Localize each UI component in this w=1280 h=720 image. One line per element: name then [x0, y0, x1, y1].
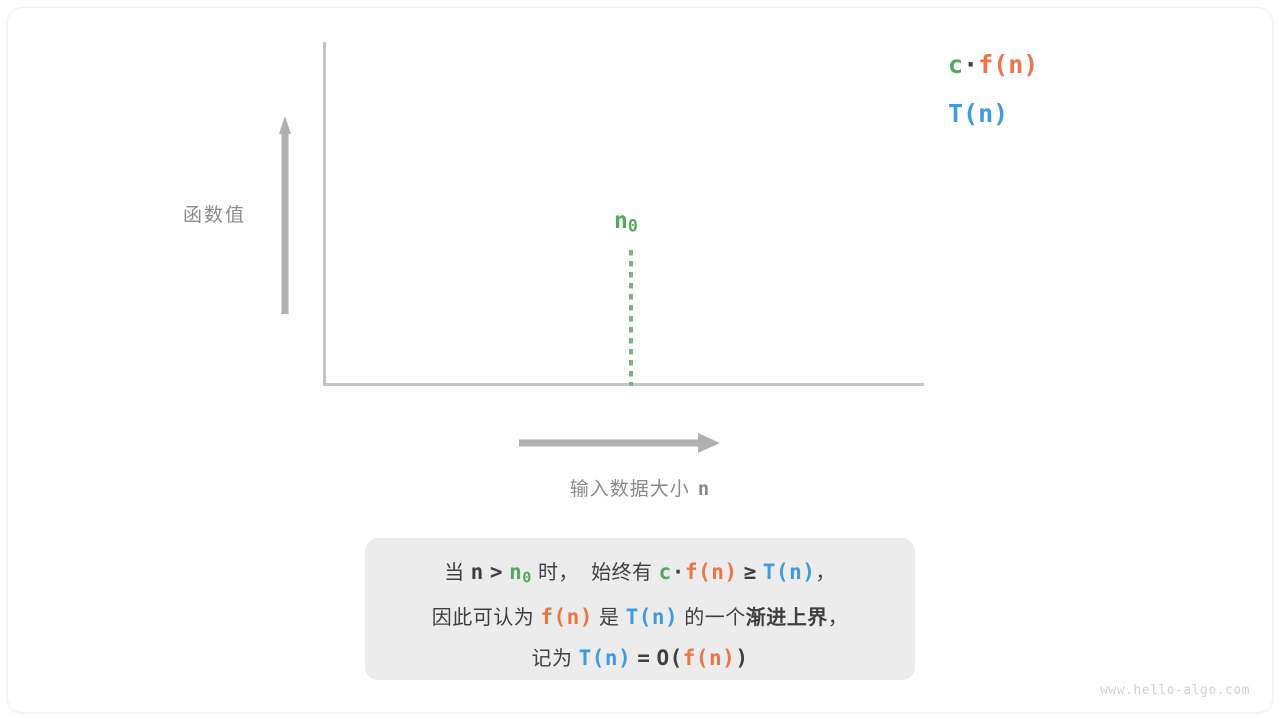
caption-line-2: 因此可认为 f(n) 是 T(n) 的一个渐进上界，	[365, 597, 915, 638]
x-axis-arrow-icon	[518, 432, 720, 454]
x-axis-label-variable: n	[698, 478, 710, 500]
n0-label: n0	[614, 208, 638, 236]
caption-l2-emphasis: 渐进上界	[746, 607, 828, 629]
n0-label-subscript: 0	[628, 217, 638, 236]
caption-l2-text-2: 是	[599, 607, 620, 629]
caption-l1-text-2: 时，	[538, 562, 579, 584]
caption-l2-text-3: 的一个	[684, 607, 746, 629]
y-axis-label: 函数值	[183, 200, 246, 227]
legend-function-f-n: f(n)	[978, 50, 1038, 79]
caption-l1-var-n0: n0	[509, 560, 532, 584]
caption-l3-bigo-open: O(	[656, 646, 682, 670]
legend-dot-operator: ·	[963, 50, 978, 79]
watermark: www.hello-algo.com	[1100, 683, 1250, 698]
caption-l1-var-n: n	[471, 560, 484, 584]
n0-dotted-line	[629, 250, 633, 386]
caption-l3-function-t-n: T(n)	[579, 646, 632, 670]
figure-root: n0 函数值 输入数据大小n c·f(n) T(n) 当 n > n0 时， 始…	[0, 0, 1280, 720]
caption-l1-constant-c: c	[659, 560, 672, 584]
caption-l1-geq: ≥	[744, 560, 757, 584]
caption-l2-comma: ，	[828, 607, 849, 629]
caption-l3-bigo-close: )	[735, 646, 748, 670]
caption-line-1: 当 n > n0 时， 始终有 c·f(n) ≥ T(n)，	[365, 552, 915, 597]
legend-constant-c: c	[948, 50, 963, 79]
x-axis-label-text: 输入数据大小	[570, 479, 690, 500]
caption-l1-gt: >	[490, 560, 503, 584]
legend-item-c-f-n: c·f(n)	[948, 50, 1038, 79]
caption-l2-function-f-n: f(n)	[540, 605, 593, 629]
caption-l1-n0-base: n	[509, 560, 522, 584]
caption-l3-text-1: 记为	[532, 648, 573, 670]
legend-item-t-n: T(n)	[948, 99, 1008, 128]
caption-line-3: 记为 T(n) = O(f(n))	[365, 638, 915, 679]
caption-l1-function-t-n: T(n)	[763, 560, 816, 584]
x-axis-label: 输入数据大小n	[0, 474, 1280, 501]
caption-l2-text-1: 因此可认为	[432, 607, 535, 629]
caption-box: 当 n > n0 时， 始终有 c·f(n) ≥ T(n)， 因此可认为 f(n…	[365, 538, 915, 680]
legend-function-t-n: T(n)	[948, 99, 1008, 128]
n0-label-base: n	[614, 208, 628, 234]
caption-l2-function-t-n: T(n)	[626, 605, 679, 629]
caption-l1-dot-operator: ·	[672, 560, 685, 584]
y-axis-arrow-icon	[279, 116, 291, 316]
caption-l1-function-f-n: f(n)	[685, 560, 738, 584]
caption-l1-text-1: 当	[444, 562, 465, 584]
caption-l3-function-f-n: f(n)	[683, 646, 736, 670]
caption-l3-equals: =	[637, 646, 650, 670]
caption-l1-text-3: 始终有	[591, 562, 653, 584]
caption-l1-comma: ，	[815, 562, 836, 584]
x-axis-tick-labels	[323, 394, 924, 420]
caption-l1-n0-sub: 0	[522, 568, 532, 586]
